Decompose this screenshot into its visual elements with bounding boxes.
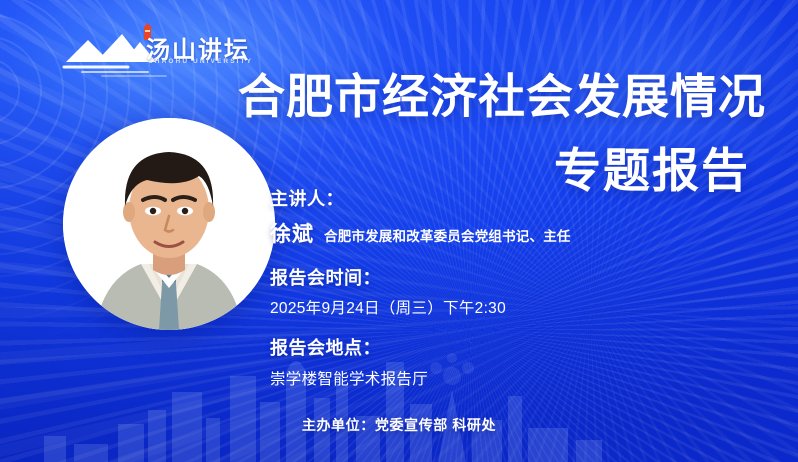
brand-logo: 汤山讲坛 CHAOHU UNIVERSITY (62, 22, 242, 80)
event-details: 主讲人： 徐斌 合肥市发展和改革委员会党组书记、主任 报告会时间： 2025年9… (270, 188, 710, 389)
speaker-name: 徐斌 (270, 218, 314, 248)
time-label: 报告会时间： (270, 267, 710, 290)
organizer-footer: 主办单位：党委宣传部 科研处 (0, 415, 798, 435)
speaker-row: 徐斌 合肥市发展和改革委员会党组书记、主任 (270, 218, 710, 248)
speaker-portrait (63, 118, 275, 330)
place-label: 报告会地点： (270, 337, 710, 360)
poster-title-line1: 合肥市经济社会发展情况 (238, 58, 766, 127)
place-value: 崇学楼智能学术报告厅 (270, 367, 710, 389)
event-poster: 汤山讲坛 CHAOHU UNIVERSITY (0, 0, 798, 462)
time-value: 2025年9月24日（周三）下午2:30 (270, 296, 710, 318)
speaker-label: 主讲人： (270, 188, 710, 211)
mountain-shape (66, 34, 156, 62)
speaker-title: 合肥市发展和改革委员会党组书记、主任 (324, 225, 571, 245)
water-lines (64, 67, 166, 76)
